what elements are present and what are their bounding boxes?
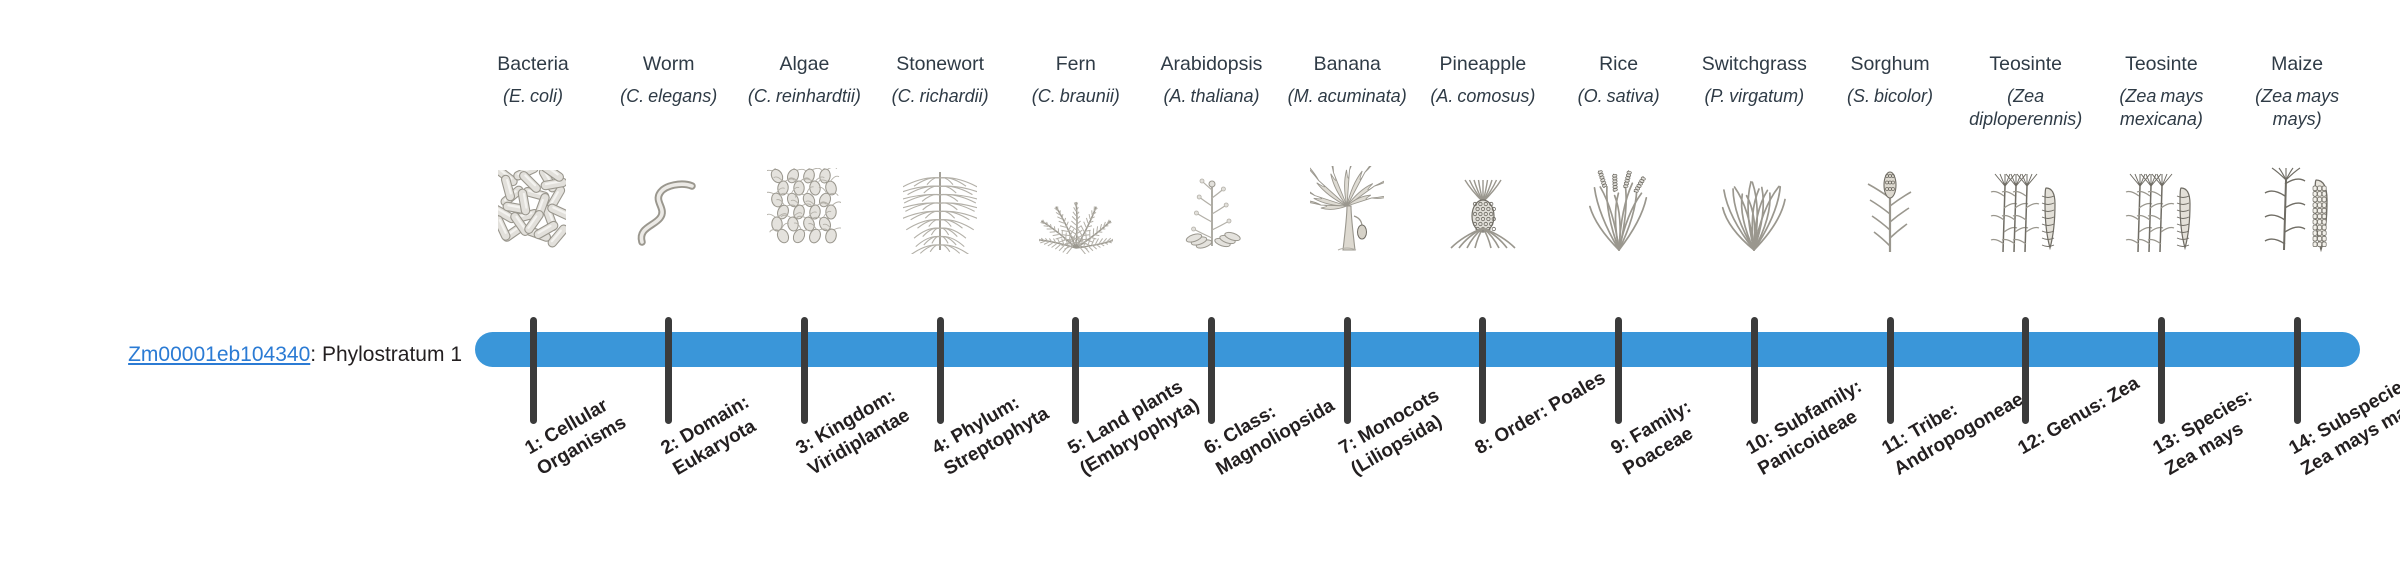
phylostratum-tick[interactable] bbox=[1072, 317, 1079, 424]
phylostratum-value: Phylostratum 1 bbox=[322, 343, 462, 366]
species-common-name: Algae bbox=[736, 52, 872, 76]
arabidopsis-icon bbox=[1144, 168, 1280, 254]
species-header: Rice(O. sativa) bbox=[1551, 52, 1687, 108]
species-common-name: Rice bbox=[1551, 52, 1687, 76]
species-column: Teosinte(Zea mays mexicana)13: Species: … bbox=[2093, 0, 2229, 580]
gene-phylostratum-label: Zm00001eb104340: Phylostratum 1 bbox=[0, 344, 462, 365]
species-scientific-name: (C. reinhardtii) bbox=[736, 85, 872, 108]
species-scientific-name: (A. thaliana) bbox=[1144, 85, 1280, 108]
species-column: Algae(C. reinhardtii)3: Kingdom: Viridip… bbox=[736, 0, 872, 580]
species-scientific-name: (E. coli) bbox=[465, 85, 601, 108]
bacteria-icon bbox=[465, 168, 601, 254]
phylostratum-tick[interactable] bbox=[1751, 317, 1758, 424]
phylostratum-tick[interactable] bbox=[665, 317, 672, 424]
species-header: Sorghum(S. bicolor) bbox=[1822, 52, 1958, 108]
species-header: Pineapple(A. comosus) bbox=[1415, 52, 1551, 108]
species-common-name: Teosinte bbox=[1958, 52, 2094, 76]
species-common-name: Banana bbox=[1279, 52, 1415, 76]
phylostratum-tick[interactable] bbox=[937, 317, 944, 424]
species-header: Banana(M. acuminata) bbox=[1279, 52, 1415, 108]
species-column: Teosinte(Zea diploperennis)12: Genus: Ze… bbox=[1958, 0, 2094, 580]
species-header: Arabidopsis(A. thaliana) bbox=[1144, 52, 1280, 108]
teosinte-icon bbox=[1958, 168, 2094, 254]
pineapple-icon bbox=[1415, 168, 1551, 254]
species-header: Worm(C. elegans) bbox=[601, 52, 737, 108]
maize-icon bbox=[2229, 168, 2365, 254]
species-column: Rice(O. sativa)9: Family: Poaceae bbox=[1551, 0, 1687, 580]
species-header: Teosinte(Zea mays mexicana) bbox=[2093, 52, 2229, 130]
phylostratum-diagram: Zm00001eb104340: Phylostratum 1 Bacteria… bbox=[0, 0, 2400, 580]
species-column: Stonewort(C. richardii)4: Phylum: Strept… bbox=[872, 0, 1008, 580]
species-column: Sorghum(S. bicolor)11: Tribe: Andropogon… bbox=[1822, 0, 1958, 580]
species-column: Banana(M. acuminata)7: Monocots (Liliops… bbox=[1279, 0, 1415, 580]
species-scientific-name: (Zea diploperennis) bbox=[1958, 85, 2094, 130]
phylostratum-tick[interactable] bbox=[801, 317, 808, 424]
sorghum-icon bbox=[1822, 168, 1958, 254]
phylostratum-tick[interactable] bbox=[2022, 317, 2029, 424]
species-common-name: Pineapple bbox=[1415, 52, 1551, 76]
species-header: Fern(C. braunii) bbox=[1008, 52, 1144, 108]
phylostratum-tick[interactable] bbox=[1344, 317, 1351, 424]
gene-label-separator: : bbox=[310, 343, 322, 366]
phylostratum-tick[interactable] bbox=[1887, 317, 1894, 424]
gene-id-link[interactable]: Zm00001eb104340 bbox=[128, 343, 310, 366]
species-common-name: Arabidopsis bbox=[1144, 52, 1280, 76]
species-scientific-name: (M. acuminata) bbox=[1279, 85, 1415, 108]
stonewort-icon bbox=[872, 168, 1008, 254]
species-header: Switchgrass(P. virgatum) bbox=[1686, 52, 1822, 108]
species-column: Arabidopsis(A. thaliana)6: Class: Magnol… bbox=[1144, 0, 1280, 580]
phylostratum-tick[interactable] bbox=[530, 317, 537, 424]
phylostratum-tick[interactable] bbox=[2158, 317, 2165, 424]
species-scientific-name: (C. braunii) bbox=[1008, 85, 1144, 108]
species-header: Teosinte(Zea diploperennis) bbox=[1958, 52, 2094, 130]
phylostratum-tick[interactable] bbox=[1615, 317, 1622, 424]
species-scientific-name: (S. bicolor) bbox=[1822, 85, 1958, 108]
rice-icon bbox=[1551, 168, 1687, 254]
species-header: Algae(C. reinhardtii) bbox=[736, 52, 872, 108]
species-column: Bacteria(E. coli)1: Cellular Organisms bbox=[465, 0, 601, 580]
species-column: Switchgrass(P. virgatum)10: Subfamily: P… bbox=[1686, 0, 1822, 580]
species-scientific-name: (Zea mays mexicana) bbox=[2093, 85, 2229, 130]
phylostratum-tick[interactable] bbox=[2294, 317, 2301, 424]
species-header: Maize(Zea mays mays) bbox=[2229, 52, 2365, 130]
species-scientific-name: (O. sativa) bbox=[1551, 85, 1687, 108]
species-common-name: Teosinte bbox=[2093, 52, 2229, 76]
species-common-name: Stonewort bbox=[872, 52, 1008, 76]
species-common-name: Bacteria bbox=[465, 52, 601, 76]
species-column: Maize(Zea mays mays)14: Subspecies: Zea … bbox=[2229, 0, 2365, 580]
species-scientific-name: (Zea mays mays) bbox=[2229, 85, 2365, 130]
species-scientific-name: (C. elegans) bbox=[601, 85, 737, 108]
species-column: Worm(C. elegans)2: Domain: Eukaryota bbox=[601, 0, 737, 580]
species-scientific-name: (C. richardii) bbox=[872, 85, 1008, 108]
species-header: Bacteria(E. coli) bbox=[465, 52, 601, 108]
phylostratum-tick[interactable] bbox=[1479, 317, 1486, 424]
species-scientific-name: (A. comosus) bbox=[1415, 85, 1551, 108]
banana-icon bbox=[1279, 168, 1415, 254]
phylostratum-tick[interactable] bbox=[1208, 317, 1215, 424]
taxonomy-rank-label: 14: Subspecies: Zea mays mays bbox=[2285, 366, 2400, 482]
species-common-name: Sorghum bbox=[1822, 52, 1958, 76]
switchgrass-icon bbox=[1686, 168, 1822, 254]
species-common-name: Worm bbox=[601, 52, 737, 76]
species-common-name: Maize bbox=[2229, 52, 2365, 76]
worm-icon bbox=[601, 168, 737, 254]
species-column: Pineapple(A. comosus)8: Order: Poales bbox=[1415, 0, 1551, 580]
teosinte-icon bbox=[2093, 168, 2229, 254]
fern-icon bbox=[1008, 168, 1144, 254]
species-header: Stonewort(C. richardii) bbox=[872, 52, 1008, 108]
species-scientific-name: (P. virgatum) bbox=[1686, 85, 1822, 108]
species-column: Fern(C. braunii)5: Land plants (Embryoph… bbox=[1008, 0, 1144, 580]
species-common-name: Fern bbox=[1008, 52, 1144, 76]
algae-icon bbox=[736, 168, 872, 254]
species-common-name: Switchgrass bbox=[1686, 52, 1822, 76]
